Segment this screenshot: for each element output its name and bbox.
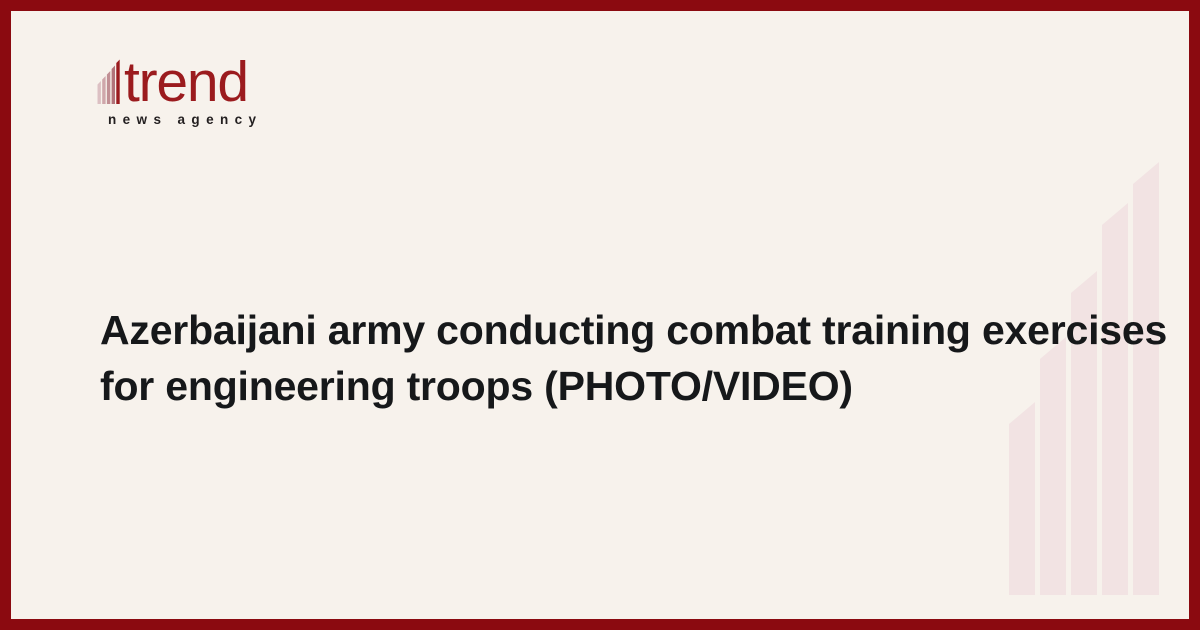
- ascending-bars-icon: [97, 58, 123, 104]
- headline: Azerbaijani army conducting combat train…: [100, 302, 1110, 414]
- trend-news-agency-logo[interactable]: trend news agency: [97, 49, 397, 141]
- card-canvas: trend news agency Azerbaijani army condu…: [11, 11, 1189, 619]
- watermark-bar-5: [1133, 162, 1159, 595]
- logo-wordmark-text: trend: [124, 54, 248, 111]
- logo-wordmark-row: trend: [97, 49, 397, 107]
- headline-line-2: for engineering troops (PHOTO/VIDEO): [100, 358, 1110, 414]
- headline-line-1: Azerbaijani army conducting combat train…: [100, 302, 1110, 358]
- watermark-bar-1: [1009, 402, 1035, 595]
- logo-tagline: news agency: [108, 112, 397, 127]
- social-share-card: trend news agency Azerbaijani army condu…: [0, 0, 1200, 630]
